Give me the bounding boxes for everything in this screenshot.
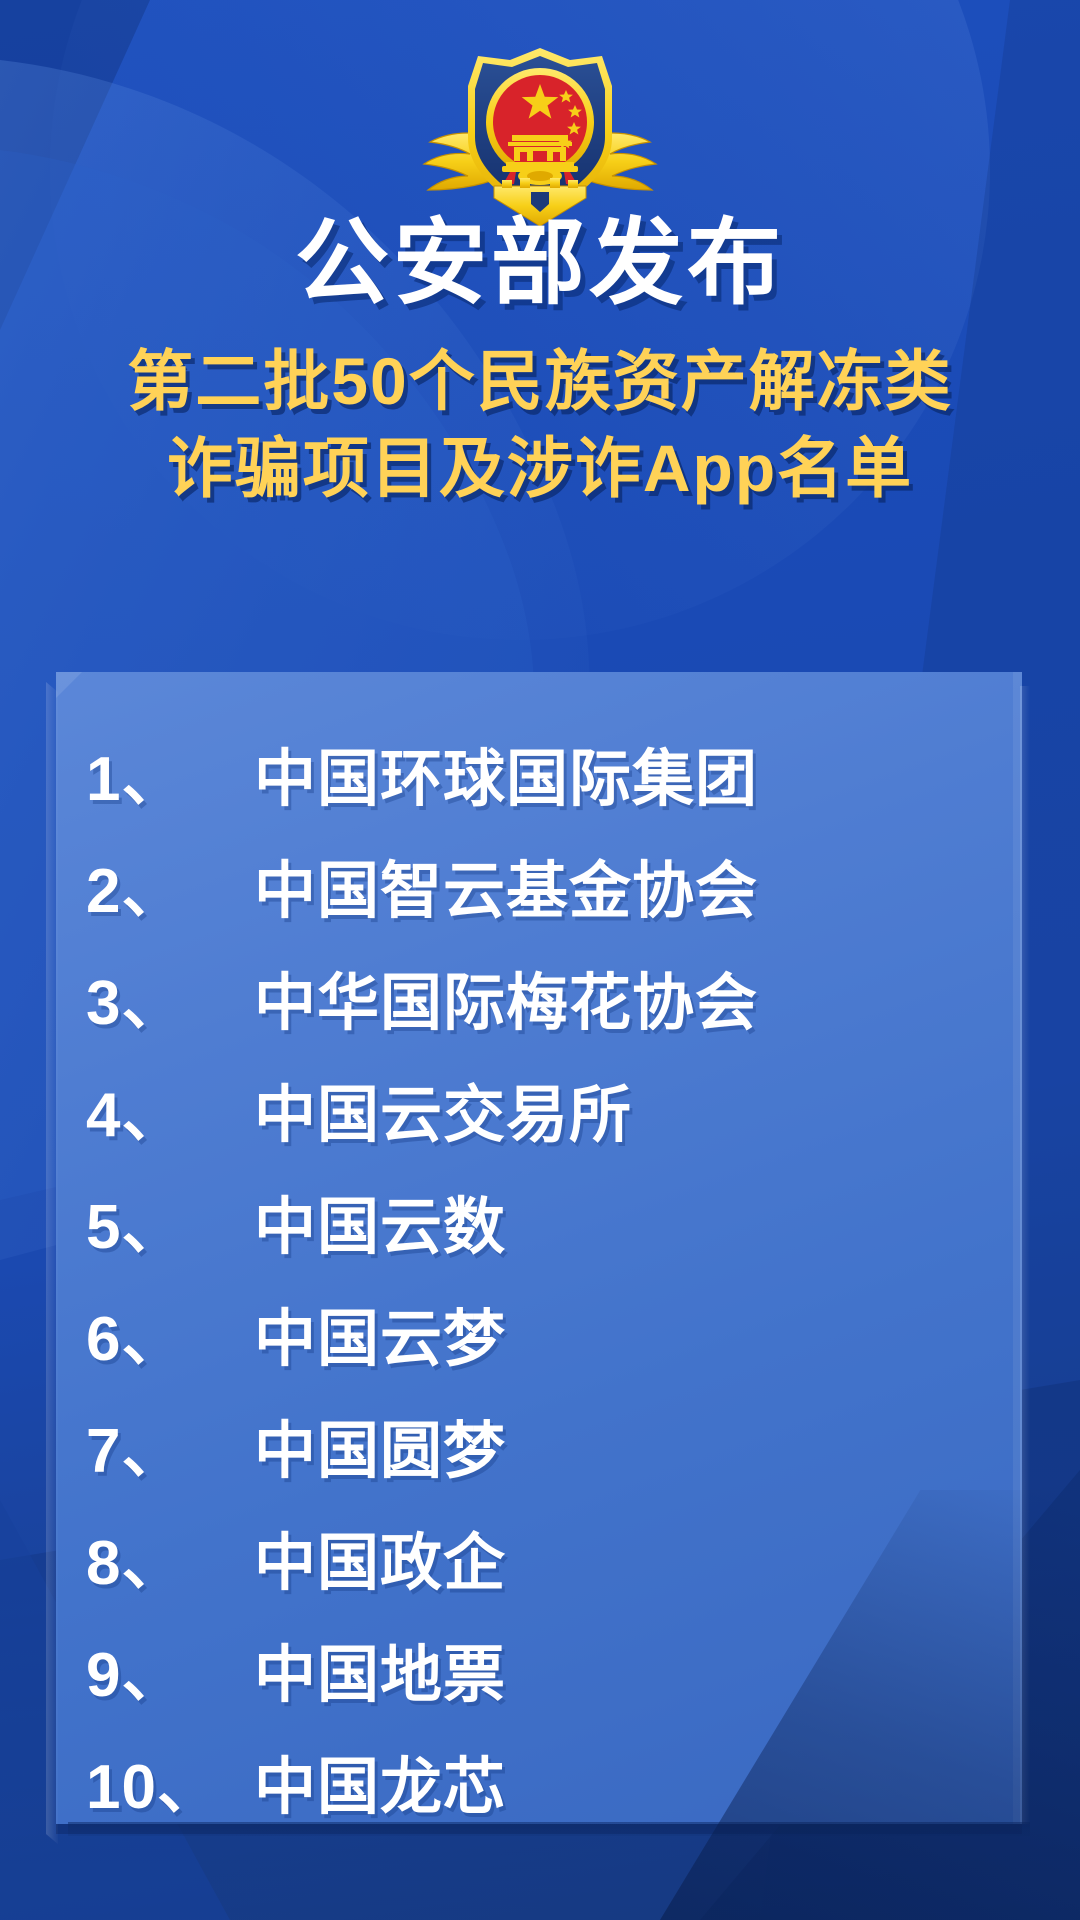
list-item-index: 9、 [86, 1624, 254, 1714]
list-item-index: 4、 [86, 1064, 254, 1154]
list-item-label: 中国智云基金协会 [254, 840, 758, 930]
list-item: 10、 中国龙芯 [56, 1736, 1022, 1848]
emblem-cog-ribbon [502, 166, 578, 186]
list-item: 2、 中国智云基金协会 [56, 840, 1022, 952]
list-item-label: 中华国际梅花协会 [254, 952, 758, 1042]
list-item-index: 2、 [86, 840, 254, 930]
page-subtitle-line-2: 诈骗项目及涉诈App名单 [0, 425, 1080, 512]
list-item-label: 中国龙芯 [254, 1736, 506, 1826]
scam-list-panel: 1、 中国环球国际集团 2、 中国智云基金协会 3、 中华国际梅花协会 4、 中… [56, 672, 1022, 1824]
list-item-label: 中国云梦 [254, 1288, 506, 1378]
list-item-index: 3、 [86, 952, 254, 1042]
list-item: 6、 中国云梦 [56, 1288, 1022, 1400]
list-item: 7、 中国圆梦 [56, 1400, 1022, 1512]
list-item-index: 7、 [86, 1400, 254, 1490]
list-item: 4、 中国云交易所 [56, 1064, 1022, 1176]
emblem-gate [506, 135, 574, 167]
page-subtitle-line-1: 第二批50个民族资产解冻类 [0, 338, 1080, 425]
page-title: 公安部发布 [0, 212, 1080, 314]
list-item-label: 中国圆梦 [254, 1400, 506, 1490]
list-item-index: 8、 [86, 1512, 254, 1602]
list-item: 1、 中国环球国际集团 [56, 728, 1022, 840]
page-subtitle: 第二批50个民族资产解冻类 诈骗项目及涉诈App名单 [0, 338, 1080, 512]
scam-list: 1、 中国环球国际集团 2、 中国智云基金协会 3、 中华国际梅花协会 4、 中… [56, 672, 1022, 1848]
list-item-index: 10、 [86, 1736, 254, 1826]
list-item-label: 中国地票 [254, 1624, 506, 1714]
list-item: 8、 中国政企 [56, 1512, 1022, 1624]
list-item: 3、 中华国际梅花协会 [56, 952, 1022, 1064]
list-item: 9、 中国地票 [56, 1624, 1022, 1736]
poster-root: 公安部发布 第二批50个民族资产解冻类 诈骗项目及涉诈App名单 1、 中国环球… [0, 0, 1080, 1920]
list-item-index: 5、 [86, 1176, 254, 1266]
list-item-index: 6、 [86, 1288, 254, 1378]
list-item-label: 中国环球国际集团 [254, 728, 758, 818]
list-item-label: 中国政企 [254, 1512, 506, 1602]
list-item-index: 1、 [86, 728, 254, 818]
list-item-label: 中国云交易所 [254, 1064, 632, 1154]
headline-block: 公安部发布 第二批50个民族资产解冻类 诈骗项目及涉诈App名单 [0, 212, 1080, 512]
china-police-badge-icon [390, 34, 690, 234]
list-item: 5、 中国云数 [56, 1176, 1022, 1288]
list-item-label: 中国云数 [254, 1176, 506, 1266]
